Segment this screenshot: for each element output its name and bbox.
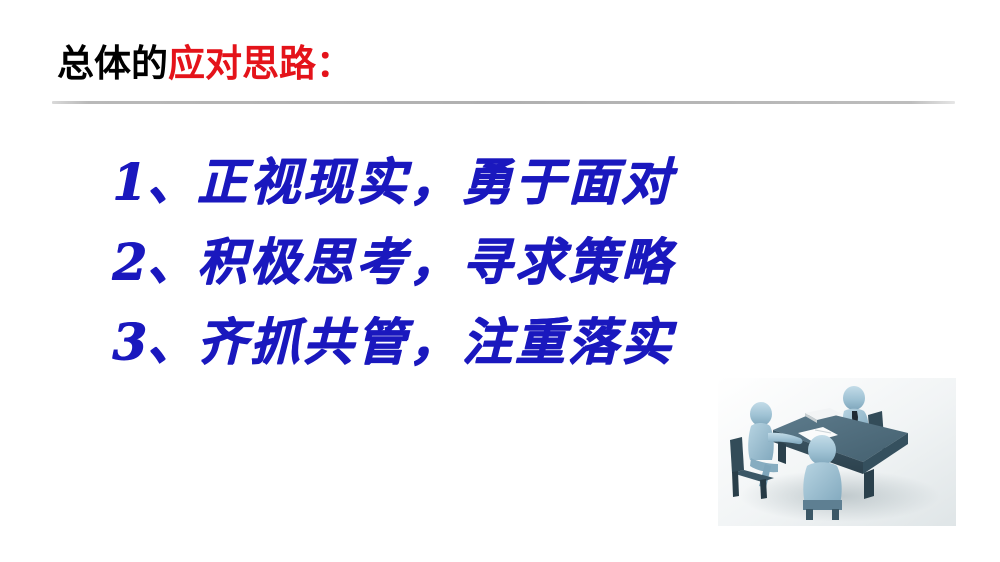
list-item-text: 正视现实，勇于面对 [197, 152, 674, 211]
table-leg [864, 469, 874, 499]
chair-foreground-seat [803, 500, 842, 510]
meeting-illustration [718, 378, 956, 526]
page-title-black-part: 总体的 [57, 43, 168, 84]
meeting-illustration-svg [718, 378, 956, 526]
slide-canvas: 总体的应对思路： 1、正视现实，勇于面对 2、积极思考，寻求策略 3、齐抓共管，… [0, 0, 1000, 562]
page-title-red-part: 应对思路： [168, 43, 353, 84]
page-title: 总体的应对思路： [57, 41, 353, 87]
strategy-list: 1、正视现实，勇于面对 2、积极思考，寻求策略 3、齐抓共管，注重落实 [112, 142, 752, 382]
list-item-number: 1、 [112, 152, 197, 211]
list-item: 1、正视现实，勇于面对 [112, 142, 752, 222]
list-item-number: 3、 [112, 312, 197, 371]
title-divider [52, 101, 955, 104]
list-item: 2、积极思考，寻求策略 [112, 222, 752, 302]
table-leg [778, 441, 786, 464]
list-item-text: 齐抓共管，注重落实 [197, 312, 674, 371]
list-item-text: 积极思考，寻求策略 [197, 232, 674, 291]
list-item-number: 2、 [112, 232, 197, 291]
list-item: 3、齐抓共管，注重落实 [112, 302, 752, 382]
